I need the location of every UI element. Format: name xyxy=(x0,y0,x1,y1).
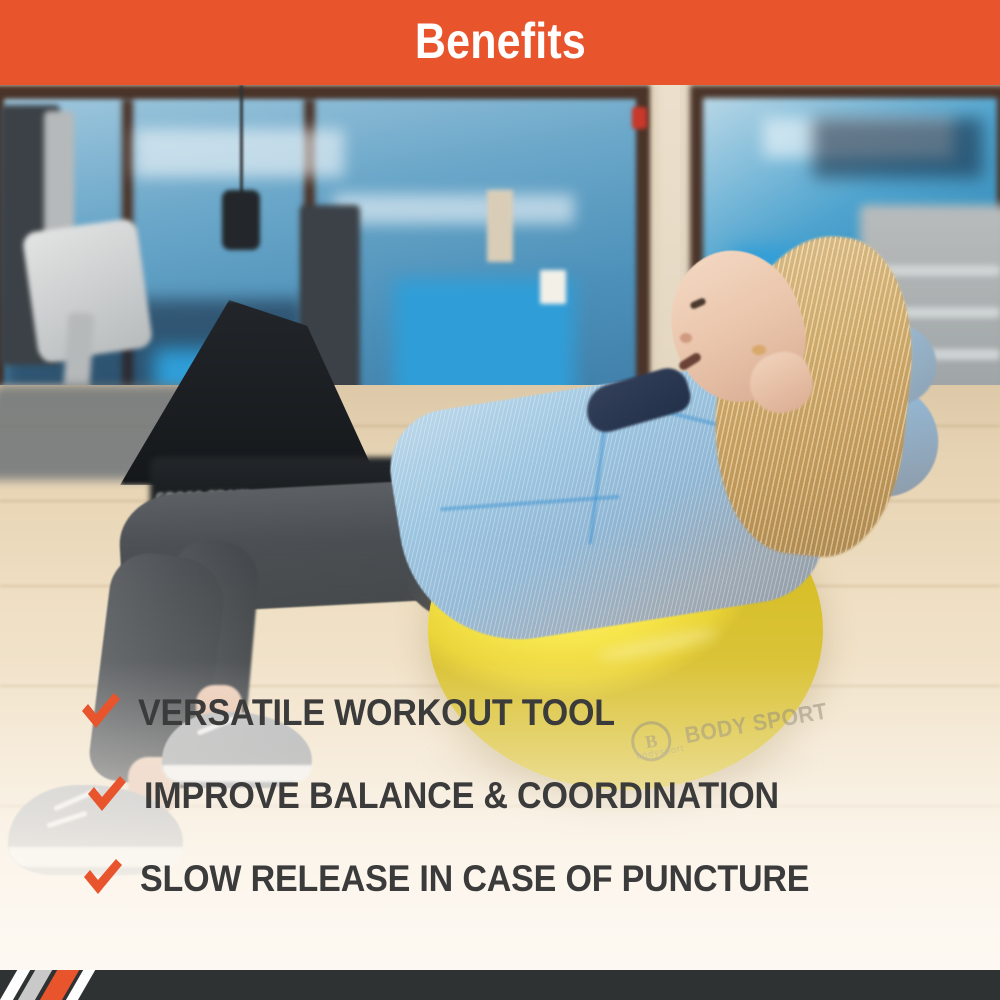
page-title: Benefits xyxy=(414,16,585,70)
window-glare xyxy=(334,194,574,224)
benefit-label: IMPROVE BALANCE & COORDINATION xyxy=(144,777,779,814)
footer-bar xyxy=(0,970,1000,1000)
check-icon xyxy=(80,856,124,900)
header-banner: Benefits xyxy=(0,0,1000,85)
ball-highlight xyxy=(598,626,718,665)
benefit-item-3: SLOW RELEASE IN CASE OF PUNCTURE xyxy=(80,856,867,900)
benefit-label: VERSATILE WORKOUT TOOL xyxy=(138,694,615,731)
fire-alarm-icon xyxy=(632,107,647,129)
cable-icon xyxy=(240,85,243,195)
benefit-label: SLOW RELEASE IN CASE OF PUNCTURE xyxy=(140,860,809,897)
benefit-item-1: VERSATILE WORKOUT TOOL xyxy=(78,690,656,734)
wall-sign xyxy=(540,270,566,304)
earring-icon xyxy=(752,345,766,355)
machine-bar xyxy=(880,265,1000,276)
window-glare xyxy=(134,129,344,177)
wall-plate xyxy=(487,190,513,262)
benefit-item-2: IMPROVE BALANCE & COORDINATION xyxy=(84,773,834,817)
nose-icon xyxy=(680,333,692,343)
check-icon xyxy=(84,773,128,817)
hero-photo: CROSS TRAIN FITNESS B BODY SPORT xyxy=(0,85,1000,970)
benefits-infographic: Benefits xyxy=(0,0,1000,1000)
tv-screen xyxy=(813,118,983,178)
check-icon xyxy=(78,690,122,734)
weight-plate xyxy=(222,190,260,250)
